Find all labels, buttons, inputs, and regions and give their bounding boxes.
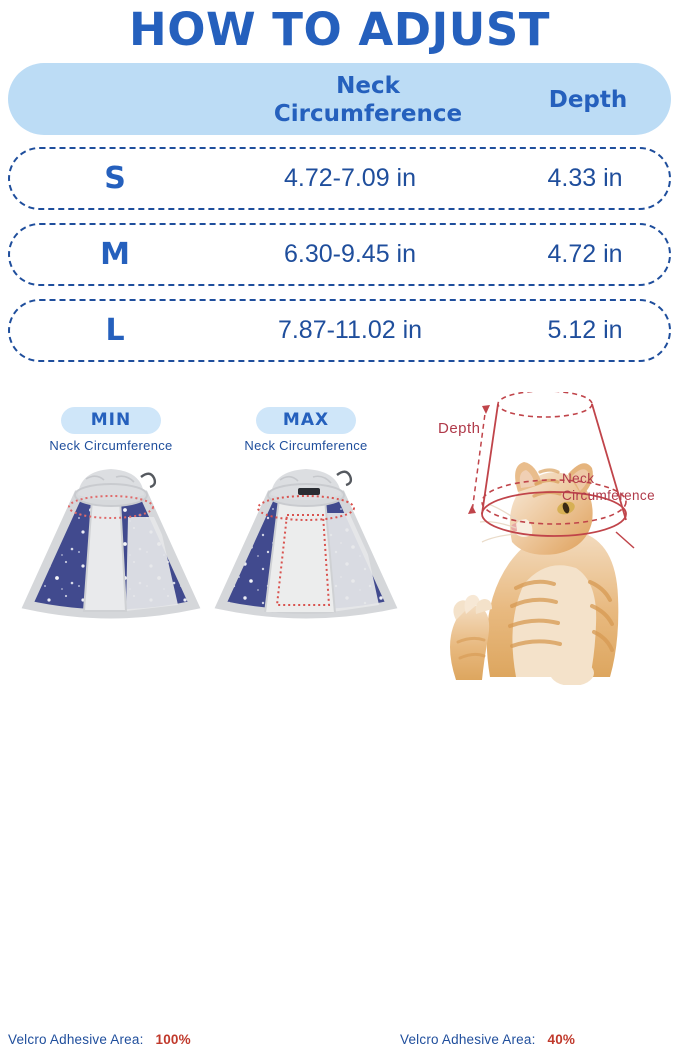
panel-min: MIN Neck Circumference [0,400,222,685]
cone-max-svg [203,455,409,625]
column-header-neck-circumference: Neck Circumference [198,72,538,128]
cell-neck-circumference: 4.72-7.09 in [185,149,515,208]
badge-max: MAX [256,407,356,434]
panel-max: MAX Neck Circumference [195,400,417,685]
column-header-depth: Depth [508,86,668,114]
cell-neck-circumference: 6.30-9.45 in [185,225,515,284]
label-depth: Depth [438,420,481,437]
cell-neck-circumference: 7.87-11.02 in [185,301,515,360]
label-neck-circumference: Neck Circumference [562,470,655,504]
label-neck-line2: Circumference [562,488,655,503]
velcro-label-min: Velcro Adhesive Area: [8,1032,144,1047]
table-row: L 7.87-11.02 in 5.12 in [8,299,671,362]
cone-illustration-min [8,455,214,625]
table-row: S 4.72-7.09 in 4.33 in [8,147,671,210]
cell-size: S [50,149,180,208]
velcro-value-max: 40% [548,1032,576,1047]
table-header-band: Neck Circumference Depth [8,63,671,135]
velcro-area-max: Velcro Adhesive Area: 40% [400,1032,575,1047]
cat-measurement-diagram: Depth Neck Circumference [420,392,679,685]
velcro-area-min: Velcro Adhesive Area: 100% [8,1032,191,1047]
cone-illustration-max [203,455,409,625]
cone-min-svg [8,455,214,625]
panel-max-caption: Neck Circumference [195,438,417,453]
velcro-label-max: Velcro Adhesive Area: [400,1032,536,1047]
label-neck-line1: Neck [562,471,594,486]
cell-size: L [50,301,180,360]
velcro-value-min: 100% [156,1032,191,1047]
cell-depth: 4.33 in [505,149,665,208]
table-row: M 6.30-9.45 in 4.72 in [8,223,671,286]
cell-size: M [50,225,180,284]
badge-min: MIN [61,407,161,434]
panel-min-caption: Neck Circumference [0,438,222,453]
header-neck-line1: Neck [336,73,400,99]
cell-depth: 4.72 in [505,225,665,284]
cell-depth: 5.12 in [505,301,665,360]
header-neck-line2: Circumference [274,101,462,127]
page-title: HOW TO ADJUST [0,2,679,57]
